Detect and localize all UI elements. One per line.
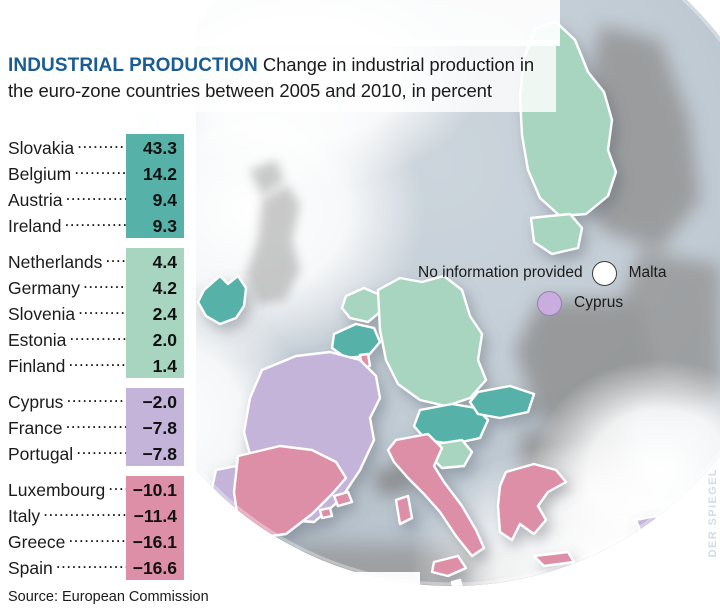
country-label: Finland: [8, 356, 67, 377]
table-row: Portugal −7.8: [8, 440, 184, 466]
country-label: Slovakia: [8, 138, 76, 159]
leader-dots: [74, 160, 126, 180]
table-row: Austria 9.4: [8, 186, 184, 212]
purple-circle-icon: [537, 291, 562, 316]
country-label: Slovenia: [8, 304, 77, 325]
legend-malta-label: Malta: [629, 264, 667, 282]
country-label: Ireland: [8, 216, 64, 237]
table-row: Spain −16.6: [8, 554, 184, 580]
leader-dots: [65, 186, 126, 206]
table-group-strong-growth: Slovakia 43.3 Belgium 14.2 Austria 9.4 I…: [8, 134, 184, 238]
country-value: 1.4: [126, 353, 184, 379]
country-label: Luxembourg: [8, 480, 107, 501]
country-value: −7.8: [126, 415, 184, 441]
leader-dots: [68, 352, 126, 372]
country-value: −7.8: [126, 441, 184, 467]
country-label: Estonia: [8, 330, 68, 351]
table-row: Germany 4.2: [8, 274, 184, 300]
table-row: Luxembourg −10.1: [8, 476, 184, 502]
country-label: Austria: [8, 190, 64, 211]
country-value: 2.4: [126, 301, 184, 327]
table-row: Ireland 9.3: [8, 212, 184, 238]
table-row: Belgium 14.2: [8, 160, 184, 186]
table-group-mild-decline: Cyprus −2.0 France −7.8 Portugal −7.8: [8, 388, 184, 466]
country-value: 9.4: [126, 187, 184, 213]
country-value: 4.4: [126, 249, 184, 275]
country-spain-ibiza: [320, 508, 332, 518]
der-spiegel-watermark: DER SPIEGEL: [707, 468, 719, 557]
country-label: Netherlands: [8, 252, 104, 273]
leader-dots: [56, 554, 126, 574]
table-group-mild-growth: Netherlands 4.4 Germany 4.2 Slovenia 2.4…: [8, 248, 184, 378]
country-label: Germany: [8, 278, 82, 299]
table-row: Slovakia 43.3: [8, 134, 184, 160]
table-row: France −7.8: [8, 414, 184, 440]
country-italy-sardinia: [396, 496, 412, 524]
leader-dots: [76, 440, 126, 460]
header: INDUSTRIAL PRODUCTION Change in industri…: [8, 52, 568, 103]
leader-dots: [43, 502, 126, 522]
country-value: 2.0: [126, 327, 184, 353]
header-line-1: INDUSTRIAL PRODUCTION Change in industri…: [8, 52, 568, 78]
country-label: Italy: [8, 506, 42, 527]
infographic-root: INDUSTRIAL PRODUCTION Change in industri…: [0, 0, 720, 612]
table-group-strong-decline: Luxembourg −10.1 Italy −11.4 Greece −16.…: [8, 476, 184, 580]
leader-dots: [77, 134, 126, 154]
leader-dots: [105, 248, 126, 268]
leader-dots: [68, 528, 126, 548]
country-label: Portugal: [8, 444, 75, 465]
table-row: Cyprus −2.0: [8, 388, 184, 414]
country-value: −10.1: [126, 477, 184, 503]
country-slovakia: [470, 386, 534, 418]
table-row: Greece −16.1: [8, 528, 184, 554]
header-subtitle-part1: Change in industrial production in: [258, 54, 534, 75]
country-spain-balearics: [334, 492, 352, 506]
country-value-table: Slovakia 43.3 Belgium 14.2 Austria 9.4 I…: [8, 134, 184, 580]
table-row: Slovenia 2.4: [8, 300, 184, 326]
page-title-kicker: INDUSTRIAL PRODUCTION: [8, 55, 258, 76]
leader-dots: [69, 326, 126, 346]
table-row: Italy −11.4: [8, 502, 184, 528]
country-value: 9.3: [126, 213, 184, 239]
source-note: Source: European Commission: [8, 589, 209, 605]
country-value: 43.3: [126, 135, 184, 161]
legend-cyprus-label: Cyprus: [574, 294, 623, 312]
leader-dots: [83, 274, 126, 294]
legend-no-information-label: No information provided: [418, 264, 583, 282]
header-line-2: the euro-zone countries between 2005 and…: [8, 78, 568, 103]
legend-item-cyprus: Cyprus: [418, 288, 666, 318]
white-circle-icon: [592, 261, 617, 286]
country-value: −16.6: [126, 555, 184, 581]
country-label: Spain: [8, 558, 55, 579]
table-row: Finland 1.4: [8, 352, 184, 378]
leader-dots: [65, 212, 126, 232]
legend-item-malta: No information provided Malta: [418, 258, 666, 288]
map-legend: No information provided Malta Cyprus: [418, 258, 666, 318]
table-row: Netherlands 4.4: [8, 248, 184, 274]
country-value: −11.4: [126, 503, 184, 529]
leader-dots: [108, 476, 126, 496]
leader-dots: [66, 388, 126, 408]
country-value: −16.1: [126, 529, 184, 555]
table-row: Estonia 2.0: [8, 326, 184, 352]
country-value: −2.0: [126, 389, 184, 415]
country-label: Cyprus: [8, 392, 65, 413]
country-value: 14.2: [126, 161, 184, 187]
country-label: France: [8, 418, 64, 439]
country-label: Greece: [8, 532, 67, 553]
country-value: 4.2: [126, 275, 184, 301]
leader-dots: [65, 414, 126, 434]
leader-dots: [78, 300, 126, 320]
country-label: Belgium: [8, 164, 73, 185]
